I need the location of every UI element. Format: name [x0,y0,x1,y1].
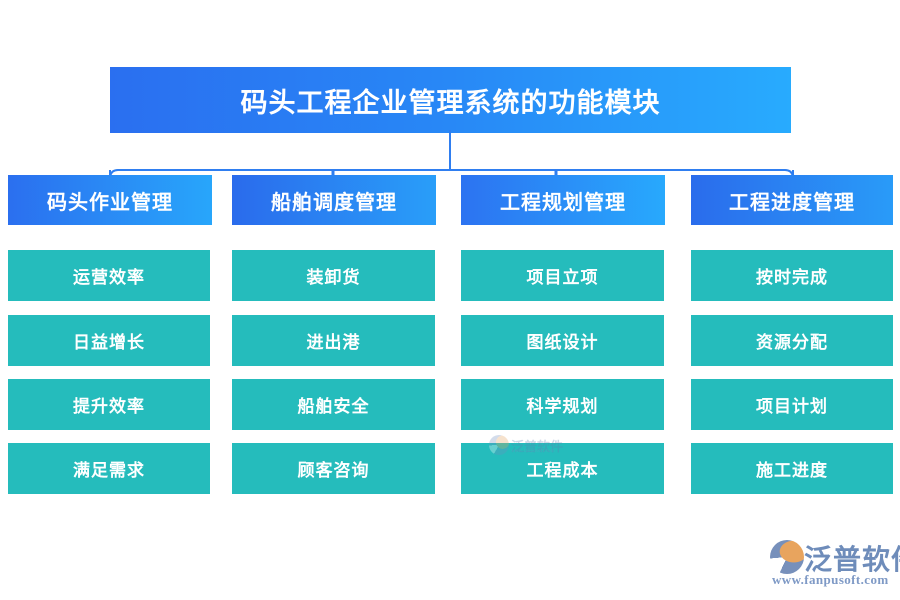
leaf-box[interactable]: 进出港 [232,315,435,366]
leaf-label: 进出港 [307,328,361,353]
leaf-box[interactable]: 运营效率 [8,250,210,301]
leaf-label: 顾客咨询 [298,456,370,481]
leaf-label: 运营效率 [73,263,145,288]
leaf-label: 项目立项 [527,263,599,288]
leaf-label: 日益增长 [73,328,145,353]
leaf-box[interactable]: 按时完成 [691,250,893,301]
leaf-box[interactable]: 顾客咨询 [232,443,435,494]
page-title: 码头工程企业管理系统的功能模块 [241,81,661,120]
leaf-label: 船舶安全 [298,392,370,417]
column-header-project-progress[interactable]: 工程进度管理 [691,175,893,225]
column-header-label: 工程进度管理 [729,186,855,215]
leaf-box[interactable]: 船舶安全 [232,379,435,430]
leaf-label: 施工进度 [756,456,828,481]
leaf-box[interactable]: 施工进度 [691,443,893,494]
leaf-label: 满足需求 [73,456,145,481]
leaf-box[interactable]: 项目计划 [691,379,893,430]
leaf-box[interactable]: 图纸设计 [461,315,664,366]
column-header-label: 工程规划管理 [500,186,626,215]
leaf-box[interactable]: 项目立项 [461,250,664,301]
leaf-label: 资源分配 [756,328,828,353]
leaf-label: 工程成本 [527,456,599,481]
column-header-ship-scheduling[interactable]: 船舶调度管理 [232,175,436,225]
leaf-box[interactable]: 装卸货 [232,250,435,301]
leaf-label: 装卸货 [307,263,361,288]
leaf-box[interactable]: 科学规划 [461,379,664,430]
leaf-label: 按时完成 [756,263,828,288]
leaf-box[interactable]: 资源分配 [691,315,893,366]
column-header-dock-operations[interactable]: 码头作业管理 [8,175,212,225]
leaf-box[interactable]: 工程成本 [461,443,664,494]
diagram-title-banner: 码头工程企业管理系统的功能模块 [110,67,791,133]
leaf-box[interactable]: 提升效率 [8,379,210,430]
leaf-label: 提升效率 [73,392,145,417]
tree-connector [0,130,900,176]
brand-logo: 泛普软件 www.fanpusoft.com [770,536,894,590]
leaf-box[interactable]: 日益增长 [8,315,210,366]
diagram-canvas: 码头工程企业管理系统的功能模块 码头作业管理 船舶调度管理 工程规划管理 工程进… [0,0,900,600]
column-header-label: 码头作业管理 [47,186,173,215]
brand-url: www.fanpusoft.com [772,572,889,588]
column-header-project-planning[interactable]: 工程规划管理 [461,175,665,225]
leaf-box[interactable]: 满足需求 [8,443,210,494]
leaf-label: 图纸设计 [527,328,599,353]
fanpusoft-logo-icon [770,540,804,574]
leaf-label: 科学规划 [527,392,599,417]
leaf-label: 项目计划 [756,392,828,417]
column-header-label: 船舶调度管理 [271,186,397,215]
